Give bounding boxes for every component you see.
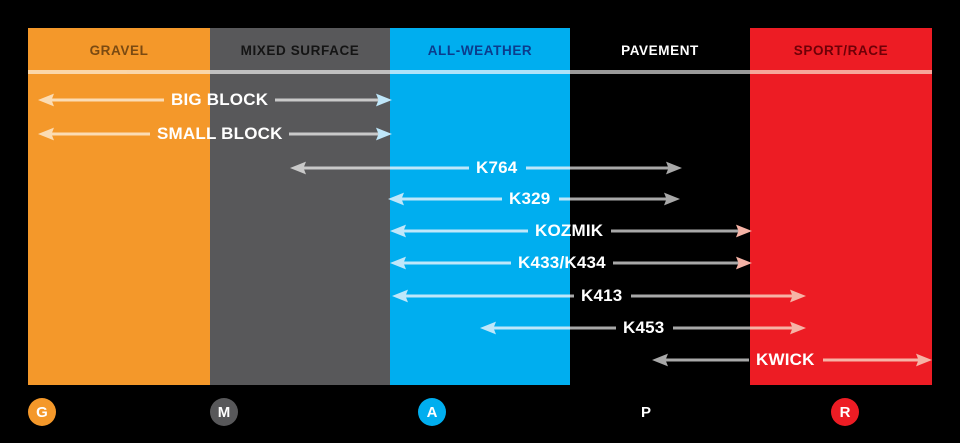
arrow-line-segment	[399, 262, 511, 265]
arrowhead-left-icon	[290, 160, 306, 176]
header-divider-segment-pavement	[570, 70, 750, 74]
legend-badge-letter: P	[641, 404, 651, 421]
arrow-row: K329	[0, 188, 960, 210]
arrowhead-left-icon	[480, 320, 496, 336]
arrow-line-segment	[397, 198, 502, 201]
arrow-line-segment	[559, 198, 570, 201]
header-divider-rule	[28, 70, 932, 74]
arrow-label-big-block: BIG BLOCK	[164, 90, 275, 110]
arrowhead-right-icon	[376, 126, 392, 142]
arrowhead-right-icon	[666, 160, 682, 176]
arrowhead-left-icon	[38, 126, 54, 142]
arrowhead-left-icon	[390, 255, 406, 271]
arrow-line-segment	[47, 99, 164, 102]
band-header-all-weather: ALL-WEATHER	[390, 28, 570, 72]
arrow-line-segment	[570, 198, 671, 201]
arrow-line-segment	[275, 99, 383, 102]
arrowhead-right-icon	[736, 255, 752, 271]
arrowhead-left-icon	[390, 223, 406, 239]
legend-badge-g[interactable]: G	[28, 398, 56, 426]
arrow-line-segment	[526, 167, 570, 170]
arrow-line-segment	[489, 327, 570, 330]
arrow-label-small-block: SMALL BLOCK	[150, 124, 290, 144]
arrow-label-kwick: KWICK	[749, 350, 822, 370]
arrow-line-segment	[823, 359, 923, 362]
arrow-row: K413	[0, 285, 960, 307]
arrow-label-k453: K453	[616, 318, 671, 338]
arrowhead-right-icon	[736, 223, 752, 239]
arrow-label-kozmik: KOZMIK	[528, 221, 610, 241]
arrow-line-segment	[299, 167, 390, 170]
arrow-row: K764	[0, 157, 960, 179]
header-divider-segment-allweather	[390, 70, 570, 74]
arrow-line-segment	[661, 359, 749, 362]
legend-badges: GMAPR	[0, 398, 960, 432]
arrow-line-segment	[570, 167, 673, 170]
arrowhead-left-icon	[388, 191, 404, 207]
arrow-line-segment	[673, 327, 750, 330]
legend-badge-r[interactable]: R	[831, 398, 859, 426]
legend-badge-letter: A	[427, 404, 438, 421]
arrowhead-right-icon	[376, 92, 392, 108]
arrow-line-segment	[47, 133, 150, 136]
arrowhead-left-icon	[38, 92, 54, 108]
arrow-line-segment	[631, 295, 750, 298]
band-header-pavement: PAVEMENT	[570, 28, 750, 72]
arrow-line-segment	[611, 230, 743, 233]
arrowhead-right-icon	[916, 352, 932, 368]
arrow-row: KWICK	[0, 349, 960, 371]
arrow-row: KOZMIK	[0, 220, 960, 242]
arrow-line-segment	[613, 262, 743, 265]
surface-range-chart: GRAVEL MIXED SURFACE ALL-WEATHER PAVEMEN…	[0, 0, 960, 443]
arrow-row: K453	[0, 317, 960, 339]
arrow-row: K433/K434	[0, 252, 960, 274]
arrowhead-right-icon	[664, 191, 680, 207]
header-divider-segment-mixed	[210, 70, 390, 74]
legend-badge-p[interactable]: P	[632, 398, 660, 426]
arrow-label-k764: K764	[469, 158, 524, 178]
band-header-mixed: MIXED SURFACE	[210, 28, 390, 72]
band-header-row: GRAVEL MIXED SURFACE ALL-WEATHER PAVEMEN…	[0, 28, 960, 72]
arrow-label-k433-k434: K433/K434	[511, 253, 613, 273]
arrow-label-k413: K413	[574, 286, 629, 306]
arrow-line-segment	[399, 230, 528, 233]
arrow-row: BIG BLOCK	[0, 89, 960, 111]
arrow-row: SMALL BLOCK	[0, 123, 960, 145]
arrow-line-segment	[390, 167, 469, 170]
header-divider-segment-gravel	[28, 70, 210, 74]
arrowhead-right-icon	[790, 288, 806, 304]
arrow-line-segment	[289, 133, 383, 136]
header-divider-segment-sport	[750, 70, 932, 74]
arrowhead-left-icon	[392, 288, 408, 304]
legend-badge-letter: M	[218, 404, 231, 421]
legend-badge-m[interactable]: M	[210, 398, 238, 426]
legend-badge-letter: G	[36, 404, 48, 421]
legend-badge-letter: R	[840, 404, 851, 421]
arrowhead-right-icon	[790, 320, 806, 336]
legend-badge-a[interactable]: A	[418, 398, 446, 426]
arrow-line-segment	[570, 327, 616, 330]
band-header-sport-race: SPORT/RACE	[750, 28, 932, 72]
arrow-label-k329: K329	[502, 189, 557, 209]
band-header-gravel: GRAVEL	[28, 28, 210, 72]
arrowhead-left-icon	[652, 352, 668, 368]
arrow-line-segment	[401, 295, 570, 298]
